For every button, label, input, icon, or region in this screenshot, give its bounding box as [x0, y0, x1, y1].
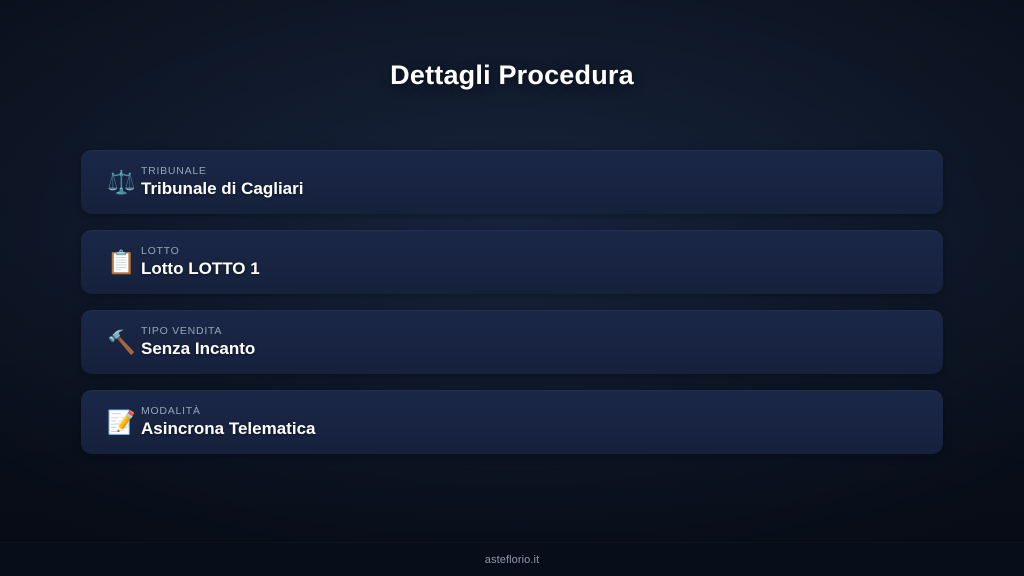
detail-card-tribunale[interactable]: ⚖️ TRIBUNALE Tribunale di Cagliari [81, 150, 943, 214]
detail-card-text: TRIBUNALE Tribunale di Cagliari [141, 165, 303, 199]
details-list: ⚖️ TRIBUNALE Tribunale di Cagliari 📋 LOT… [0, 150, 1024, 454]
detail-card-text: TIPO VENDITA Senza Incanto [141, 325, 255, 359]
title-area: Dettagli Procedura [0, 0, 1024, 150]
clipboard-icon: 📋 [107, 251, 141, 274]
detail-label: LOTTO [141, 245, 260, 257]
slide-root: Dettagli Procedura ⚖️ TRIBUNALE Tribunal… [0, 0, 1024, 576]
memo-icon: 📝 [107, 411, 141, 434]
balance-scales-icon: ⚖️ [107, 171, 141, 194]
detail-label: MODALITÀ [141, 405, 315, 417]
detail-value: Asincrona Telematica [141, 419, 315, 439]
detail-value: Lotto LOTTO 1 [141, 259, 260, 279]
footer-site-label: asteflorio.it [485, 554, 540, 566]
detail-label: TIPO VENDITA [141, 325, 255, 337]
spacer [0, 454, 1024, 542]
detail-card-modalita[interactable]: 📝 MODALITÀ Asincrona Telematica [81, 390, 943, 454]
page-title: Dettagli Procedura [390, 60, 634, 91]
detail-label: TRIBUNALE [141, 165, 303, 177]
detail-value: Tribunale di Cagliari [141, 179, 303, 199]
detail-card-tipo-vendita[interactable]: 🔨 TIPO VENDITA Senza Incanto [81, 310, 943, 374]
detail-value: Senza Incanto [141, 339, 255, 359]
detail-card-lotto[interactable]: 📋 LOTTO Lotto LOTTO 1 [81, 230, 943, 294]
footer-bar: asteflorio.it [0, 542, 1024, 576]
detail-card-text: MODALITÀ Asincrona Telematica [141, 405, 315, 439]
detail-card-text: LOTTO Lotto LOTTO 1 [141, 245, 260, 279]
hammer-icon: 🔨 [107, 331, 141, 354]
